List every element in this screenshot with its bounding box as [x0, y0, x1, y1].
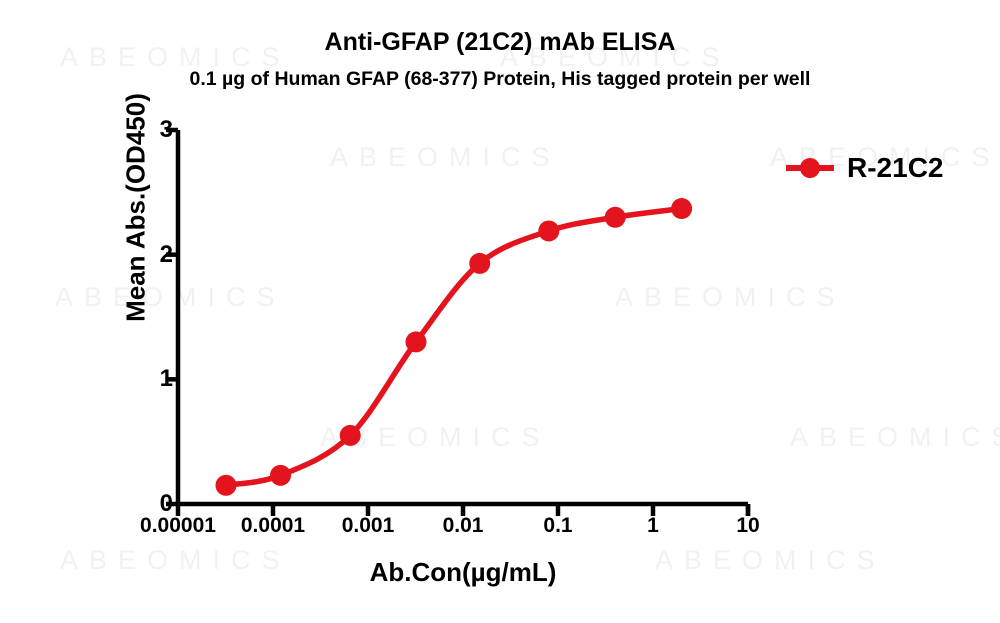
y-tick-label: 1	[139, 365, 173, 393]
tick-marks	[166, 130, 748, 516]
x-tick-label: 1	[647, 514, 659, 538]
y-axis-title: Mean Abs.(OD450)	[121, 63, 152, 353]
legend-label-r-21c2: R-21C2	[847, 152, 943, 184]
x-tick-label: 0.1	[543, 514, 572, 538]
x-tick-label: 0.001	[342, 514, 395, 538]
x-axis-title: Ab.Con(µg/mL)	[178, 557, 748, 588]
x-tick-label: 0.0001	[241, 514, 305, 538]
x-tick-label: 0.01	[443, 514, 484, 538]
chart-title: Anti-GFAP (21C2) mAb ELISA	[0, 28, 1000, 57]
chart-figure: ABEOMICS ABEOMICS ABEOMICS ABEOMICS ABEO…	[0, 0, 1000, 623]
legend: R-21C2	[784, 152, 943, 184]
y-tick-label: 2	[139, 241, 173, 269]
legend-marker-r-21c2	[784, 155, 836, 181]
data-series-layer	[215, 198, 692, 496]
y-tick-label: 0	[139, 490, 173, 518]
y-tick-label: 3	[139, 116, 173, 144]
x-tick-label: 10	[736, 514, 759, 538]
axis-lines	[178, 130, 748, 504]
